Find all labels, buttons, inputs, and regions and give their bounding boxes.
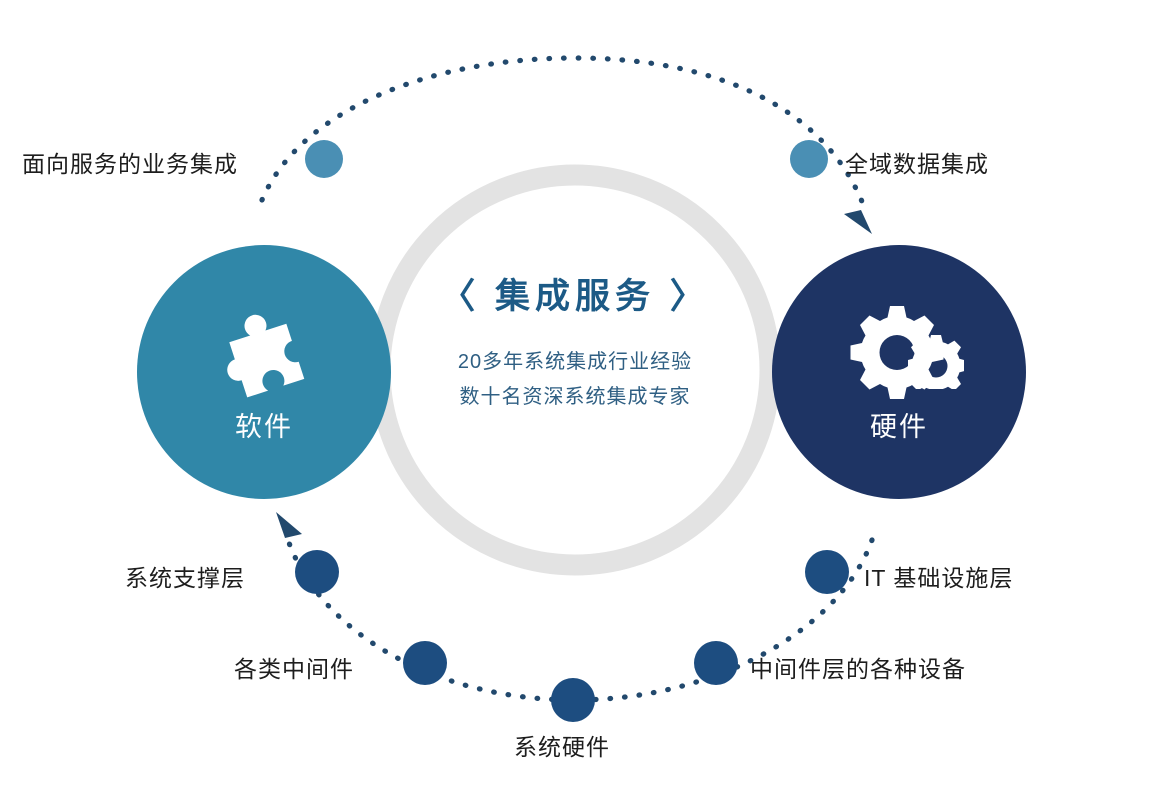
- puzzle-piece-icon: [212, 302, 316, 407]
- diagram-canvas: 软件 硬件 〈 集成服务 〉 20多年系统集成行业经验 数十名资深系统集成专家: [0, 0, 1151, 786]
- node-dot-middleware-layer-devices[interactable]: [694, 641, 738, 685]
- lobe-software-label: 软件: [235, 413, 293, 443]
- node-dot-it-infrastructure-layer[interactable]: [805, 550, 849, 594]
- node-dot-global-data-integration[interactable]: [790, 140, 828, 178]
- upper-dotted-arc: [262, 58, 866, 212]
- node-label-middleware-types: 各类中间件: [234, 650, 354, 684]
- center-subtitle-line-1: 20多年系统集成行业经验: [375, 345, 775, 380]
- node-label-service-oriented-business-integration: 面向服务的业务集成: [22, 145, 238, 179]
- node-dot-service-oriented-business-integration[interactable]: [305, 140, 343, 178]
- node-label-system-support-layer: 系统支撑层: [125, 559, 245, 593]
- node-label-system-hardware: 系统硬件: [514, 728, 610, 762]
- node-label-it-infrastructure-layer: IT 基础设施层: [864, 559, 1013, 593]
- title-bracket-right: 〉: [670, 277, 710, 316]
- node-label-global-data-integration: 全域数据集成: [845, 145, 989, 179]
- lobe-hardware-label: 硬件: [870, 413, 928, 443]
- node-dot-middleware-types[interactable]: [403, 641, 447, 685]
- center-title: 〈 集成服务 〉: [375, 268, 775, 319]
- lobe-hardware[interactable]: 硬件: [772, 245, 1026, 499]
- node-dot-system-support-layer[interactable]: [295, 550, 339, 594]
- node-label-middleware-layer-devices: 中间件层的各种设备: [750, 650, 966, 684]
- title-bracket-left: 〈: [440, 277, 480, 316]
- page-title: 集成服务: [495, 277, 655, 316]
- upper-arc-arrowhead: [844, 210, 872, 234]
- node-dot-system-hardware[interactable]: [551, 678, 595, 722]
- small-gear-icon: [908, 333, 964, 389]
- center-text-block: 〈 集成服务 〉 20多年系统集成行业经验 数十名资深系统集成专家: [375, 268, 775, 415]
- lower-arc-arrowhead: [276, 512, 302, 538]
- lobe-software[interactable]: 软件: [137, 245, 391, 499]
- center-subtitle-line-2: 数十名资深系统集成专家: [375, 380, 775, 415]
